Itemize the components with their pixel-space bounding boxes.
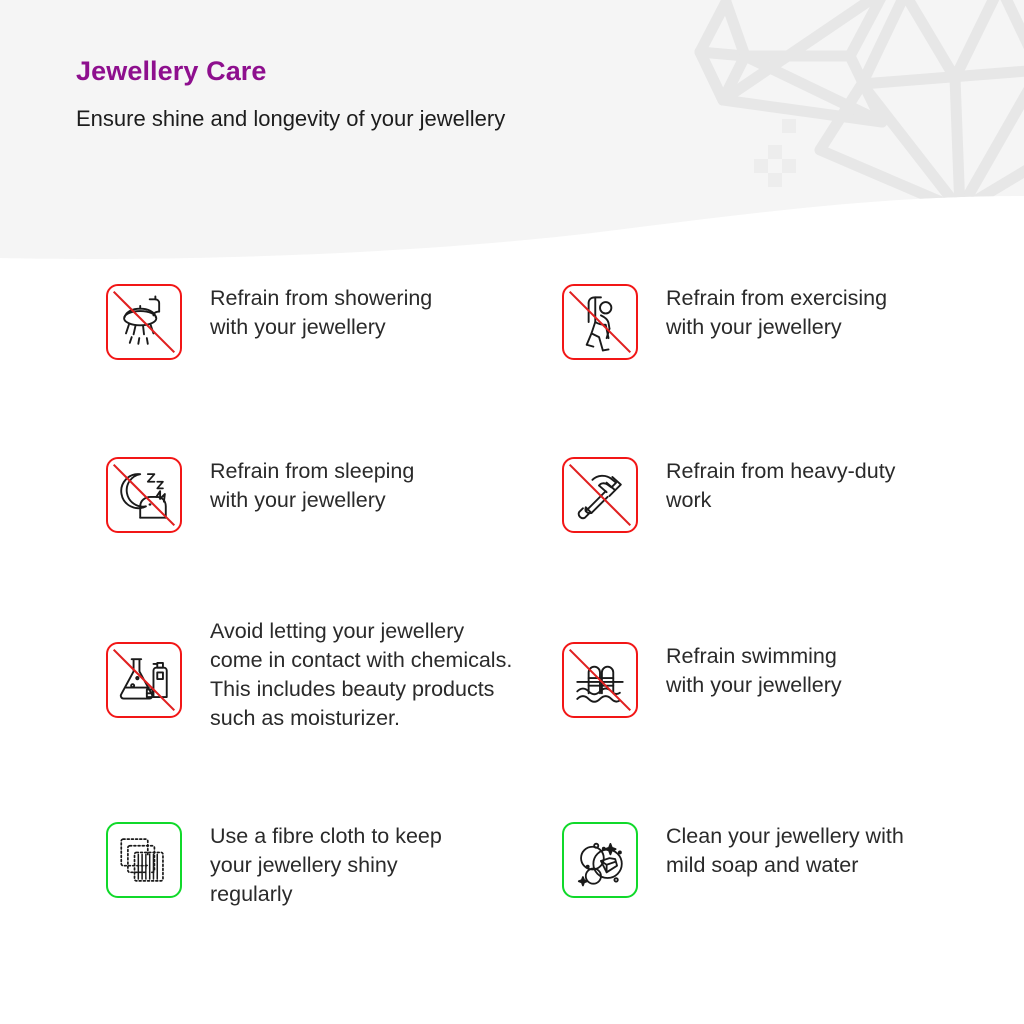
- chemicals-flask-spray-icon: [106, 642, 182, 718]
- swimming-pool-ladder-icon: [562, 642, 638, 718]
- care-item-fibre-cloth: Use a fibre cloth to keep your jewellery…: [106, 822, 442, 909]
- care-item-label: Clean your jewellery with mild soap and …: [638, 822, 904, 880]
- care-item-label: Refrain from heavy-duty work: [638, 457, 895, 515]
- care-item-label: Refrain from exercising with your jewell…: [638, 284, 887, 342]
- care-items-grid: Refrain from showering with your jewelle…: [0, 0, 1024, 1024]
- fibre-cloth-stack-icon: [106, 822, 182, 898]
- page-title: Jewellery Care: [76, 54, 505, 88]
- care-item-exercising: Refrain from exercising with your jewell…: [562, 284, 887, 360]
- care-item-showering: Refrain from showering with your jewelle…: [106, 284, 432, 360]
- sleeping-moon-cat-icon: [106, 457, 182, 533]
- care-item-chemicals: Avoid letting your jewellery come in con…: [106, 642, 512, 733]
- header-text-group: Jewellery Care Ensure shine and longevit…: [76, 54, 505, 134]
- care-item-sleeping: Refrain from sleeping with your jeweller…: [106, 457, 414, 533]
- exercising-person-icon: [562, 284, 638, 360]
- care-item-label: Refrain swimming with your jewellery: [638, 642, 842, 700]
- care-item-label: Use a fibre cloth to keep your jewellery…: [182, 822, 442, 909]
- care-item-swimming: Refrain swimming with your jewellery: [562, 642, 842, 718]
- page-subtitle: Ensure shine and longevity of your jewel…: [76, 88, 505, 134]
- shower-icon: [106, 284, 182, 360]
- care-item-label: Refrain from sleeping with your jeweller…: [182, 457, 414, 515]
- care-item-label: Avoid letting your jewellery come in con…: [182, 617, 512, 733]
- gem-bubbles-sparkle-icon: [562, 822, 638, 898]
- care-item-label: Refrain from showering with your jewelle…: [182, 284, 432, 342]
- care-item-clean-soap: Clean your jewellery with mild soap and …: [562, 822, 904, 898]
- care-item-heavy-duty: Refrain from heavy-duty work: [562, 457, 895, 533]
- hammer-icon: [562, 457, 638, 533]
